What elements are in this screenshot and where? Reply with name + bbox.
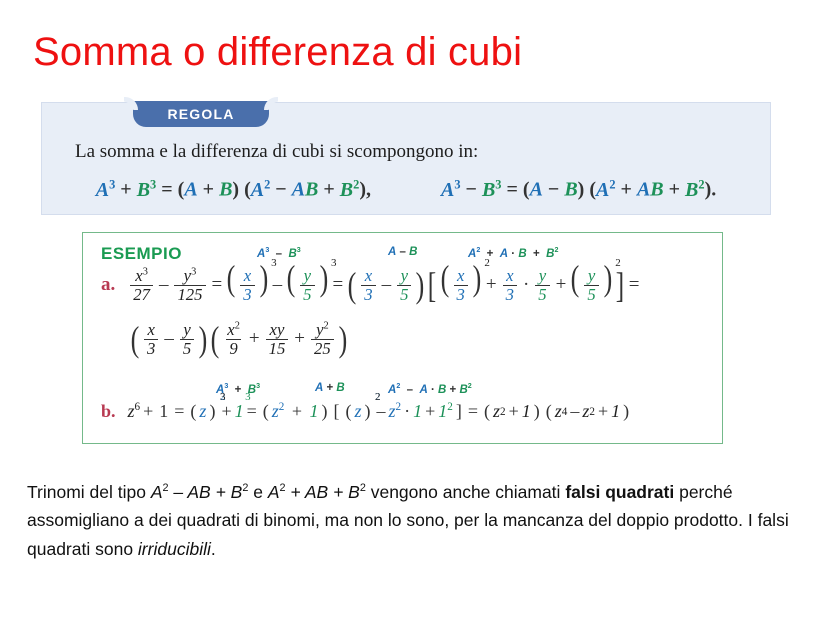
paragraph-part-2: vengono anche chiamati xyxy=(366,482,565,502)
page-title: Somma o differenza di cubi xyxy=(33,30,522,75)
paragraph-bold-falsi-quadrati: falsi quadrati xyxy=(565,482,674,502)
paragraph-mid: e xyxy=(248,482,267,502)
annotation-b-trinomial: A2 – A · B + B2 xyxy=(388,382,472,396)
annotation-a-trinomial: A2 + A · B + B2 xyxy=(468,246,558,260)
example-b-line1: b. z6+1 = (z2)3 +13 = (z2 + 1) [ (z2)2 –… xyxy=(101,401,632,422)
regola-panel: REGOLA La somma e la differenza di cubi … xyxy=(41,102,771,215)
regola-tab-label: REGOLA xyxy=(133,101,269,127)
paragraph-italic-irriducibili: irriducibili xyxy=(138,539,211,559)
example-a-marker: a. xyxy=(101,274,115,296)
regola-formula-diff: A3 − B3 = (A − B) (A2 + AB + B2). xyxy=(441,177,716,202)
expr-falsi-1: A2 – AB + B2 xyxy=(151,482,249,502)
example-a-line2: (x3–y5) (x29+xy15+y225) xyxy=(129,321,349,357)
example-a-line1: a. x327 – y3125 = (x3)3 – (y5)3 = (x3–y5… xyxy=(101,267,643,303)
example-b-marker: b. xyxy=(101,401,116,422)
esempio-panel: ESEMPIO A3 – B3 A – B A2 + A · B + B2 a.… xyxy=(82,232,723,444)
esempio-label: ESEMPIO xyxy=(101,244,182,264)
regola-intro-text: La somma e la differenza di cubi si scom… xyxy=(75,141,478,163)
body-paragraph: Trinomi del tipo A2 – AB + B2 e A2 + AB … xyxy=(27,474,809,563)
regola-formula-sum: A3 + B3 = (A + B) (A2 − AB + B2), xyxy=(96,177,371,202)
paragraph-part-4: . xyxy=(211,539,216,559)
paragraph-part-1: Trinomi del tipo xyxy=(27,482,151,502)
regola-formulas: A3 + B3 = (A + B) (A2 − AB + B2), A3 − B… xyxy=(42,177,770,202)
expr-falsi-2: A2 + AB + B2 xyxy=(268,482,366,502)
annotation-a-binomial: A – B xyxy=(388,246,417,258)
annotation-b-binomial: A + B xyxy=(315,382,345,394)
